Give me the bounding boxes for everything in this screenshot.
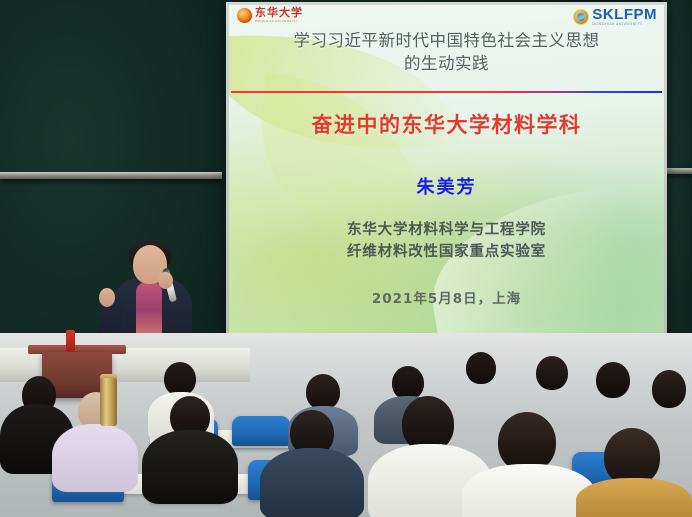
presentation-slide: 东华大学 DONGHUA UNIVERSITY SKLFPM DONGHUA U…: [229, 5, 664, 335]
audience-head: [466, 352, 496, 384]
slide-header: 学习习近平新时代中国特色社会主义思想 的生动实践: [229, 29, 664, 76]
audience-body: [260, 448, 364, 517]
sklfpm-logo-en: DONGHUA UNIVERSITY: [592, 23, 657, 27]
audience-body: [576, 478, 692, 517]
chalk-rail-right: [666, 168, 692, 174]
audience-body: [52, 424, 138, 492]
sklfpm-emblem-icon: [573, 9, 589, 25]
slide-header-line-1: 学习习近平新时代中国特色社会主义思想: [229, 29, 664, 52]
donghua-emblem-icon: [237, 8, 252, 23]
affiliation-line-2: 纤维材料改性国家重点实验室: [229, 242, 664, 264]
slide-divider-line: [231, 91, 662, 93]
slide-date-location: 2021年5月8日，上海: [229, 287, 664, 307]
audience-head: [306, 374, 340, 410]
audience-head: [392, 366, 424, 400]
audience-head: [164, 362, 196, 396]
chalk-rail-left: [0, 172, 222, 179]
audience-head: [498, 412, 556, 472]
thermos-bottle: [100, 378, 117, 426]
presenter-gesturing-hand: [99, 288, 115, 307]
projection-screen: 东华大学 DONGHUA UNIVERSITY SKLFPM DONGHUA U…: [226, 2, 667, 338]
affiliation-line-1: 东华大学材料科学与工程学院: [229, 220, 664, 242]
donghua-university-logo: 东华大学 DONGHUA UNIVERSITY: [237, 8, 303, 23]
slide-affiliation: 东华大学材料科学与工程学院 纤维材料改性国家重点实验室: [229, 220, 664, 264]
slide-header-line-2: 的生动实践: [229, 52, 664, 75]
sklfpm-logo: SKLFPM DONGHUA UNIVERSITY: [573, 7, 657, 27]
audience-head: [652, 370, 686, 408]
sklfpm-acronym: SKLFPM: [592, 7, 657, 22]
audience-body: [142, 430, 238, 504]
slide-speaker-name: 朱美芳: [229, 173, 664, 199]
audience-head: [596, 362, 630, 398]
seat: [232, 416, 290, 446]
red-bottle: [66, 330, 75, 352]
presenter-mic-hand: [158, 272, 173, 289]
donghua-logo-en: DONGHUA UNIVERSITY: [255, 20, 303, 23]
lecture-hall-photo: 东华大学 DONGHUA UNIVERSITY SKLFPM DONGHUA U…: [0, 0, 692, 517]
slide-main-title: 奋进中的东华大学材料学科: [229, 109, 664, 139]
donghua-logo-cn: 东华大学: [255, 8, 303, 19]
audience-head: [536, 356, 568, 390]
